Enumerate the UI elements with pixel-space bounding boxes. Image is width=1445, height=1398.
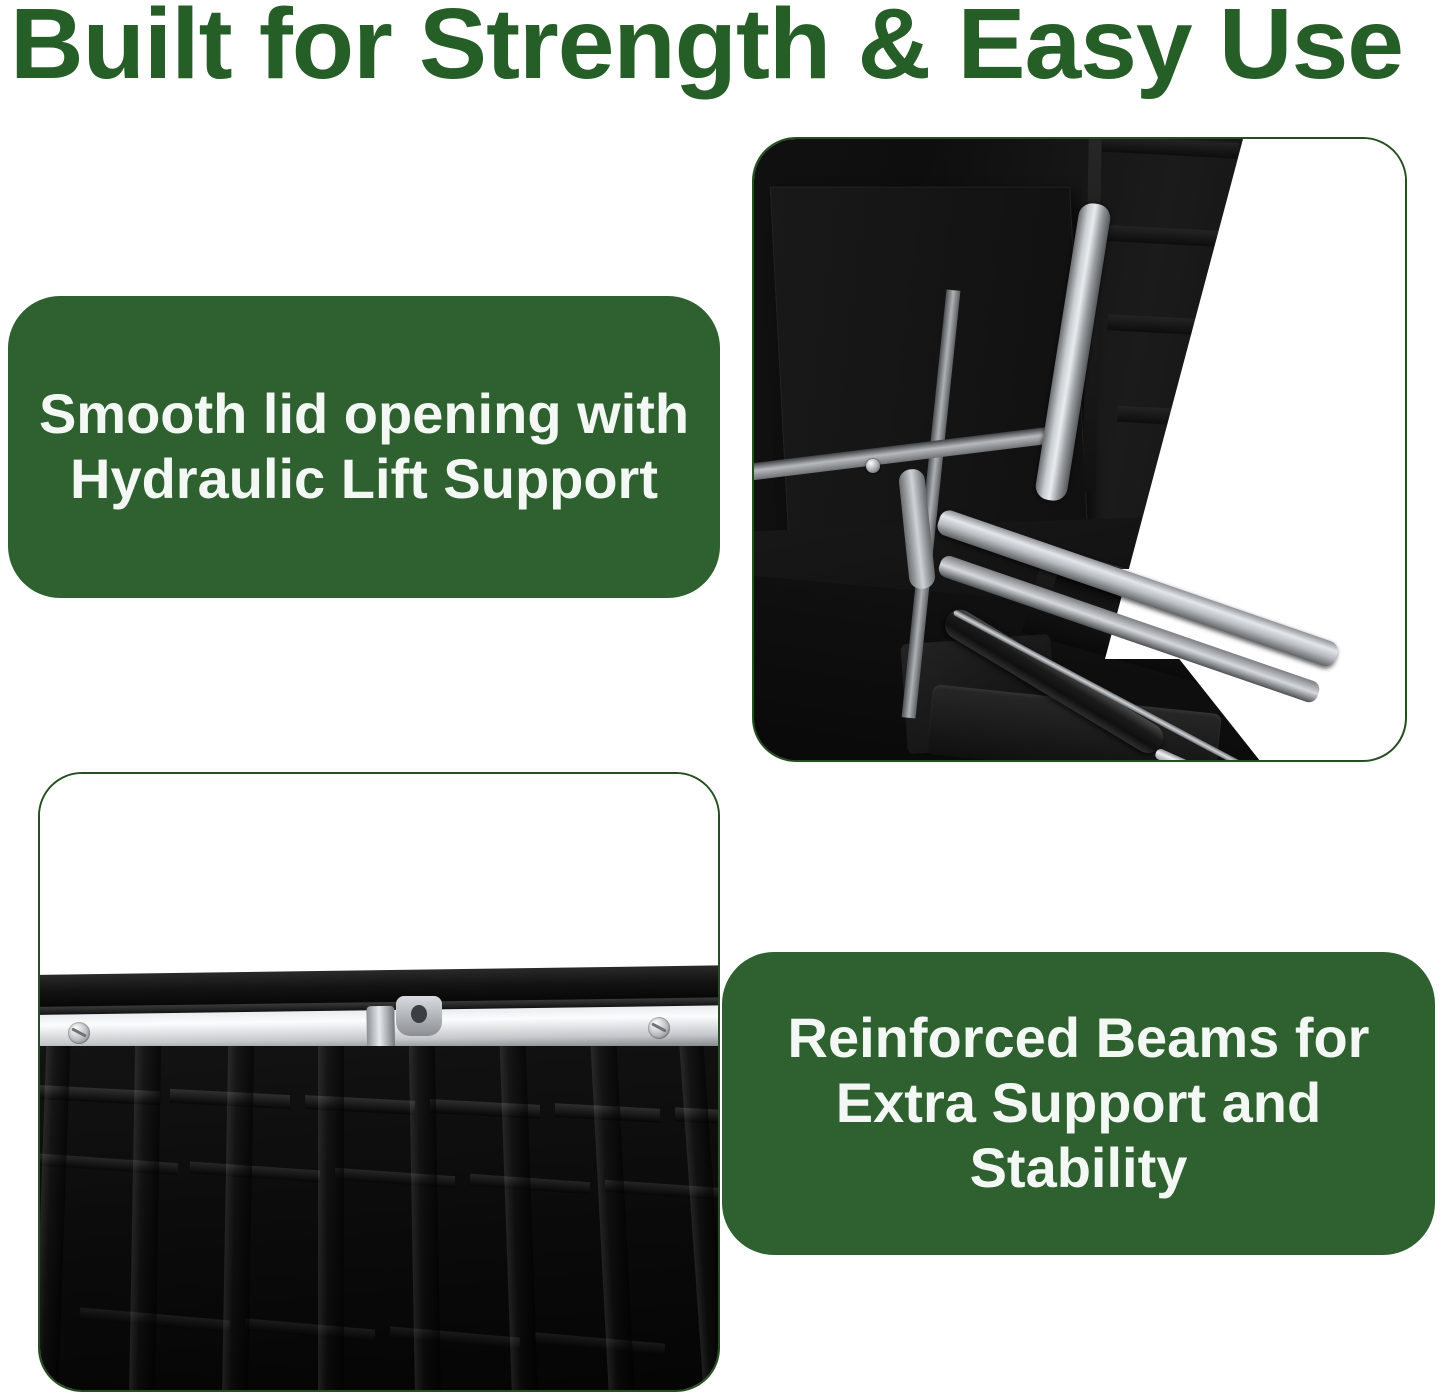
hydraulic-lift-scene: [754, 139, 1405, 760]
reinforcement-rib: [222, 1046, 254, 1392]
latch-bracket-eyelet: [396, 996, 442, 1036]
screw-icon: [648, 1017, 670, 1039]
callout-reinforced-beams-text: Reinforced Beams for Extra Support and S…: [748, 1006, 1409, 1201]
rivet: [866, 459, 880, 473]
studio-background: [40, 774, 718, 984]
beam-shelf: [190, 1161, 320, 1182]
reinforcement-beam-wall: [38, 1046, 720, 1392]
callout-reinforced-beams: Reinforced Beams for Extra Support and S…: [722, 952, 1435, 1255]
infographic-root: Built for Strength & Easy Use Smooth lid…: [0, 0, 1445, 1398]
photo-reinforced-beams: [38, 772, 720, 1392]
reinforced-beams-scene: [40, 774, 718, 1390]
callout-hydraulic-lift-text: Smooth lid opening with Hydraulic Lift S…: [34, 382, 694, 512]
beam-shelf: [390, 1326, 520, 1349]
photo-hydraulic-lift: [752, 137, 1407, 762]
beam-shelf: [535, 1332, 665, 1355]
reinforcement-rib: [318, 1046, 344, 1392]
reinforcement-rib: [409, 1046, 441, 1392]
page-title: Built for Strength & Easy Use: [10, 0, 1445, 94]
reinforcement-rib: [129, 1046, 161, 1392]
beam-shelf: [245, 1318, 375, 1341]
screw-icon: [68, 1022, 90, 1044]
reinforcement-rib: [679, 1046, 720, 1392]
lid-rib: [1088, 137, 1239, 159]
callout-hydraulic-lift: Smooth lid opening with Hydraulic Lift S…: [8, 296, 720, 598]
